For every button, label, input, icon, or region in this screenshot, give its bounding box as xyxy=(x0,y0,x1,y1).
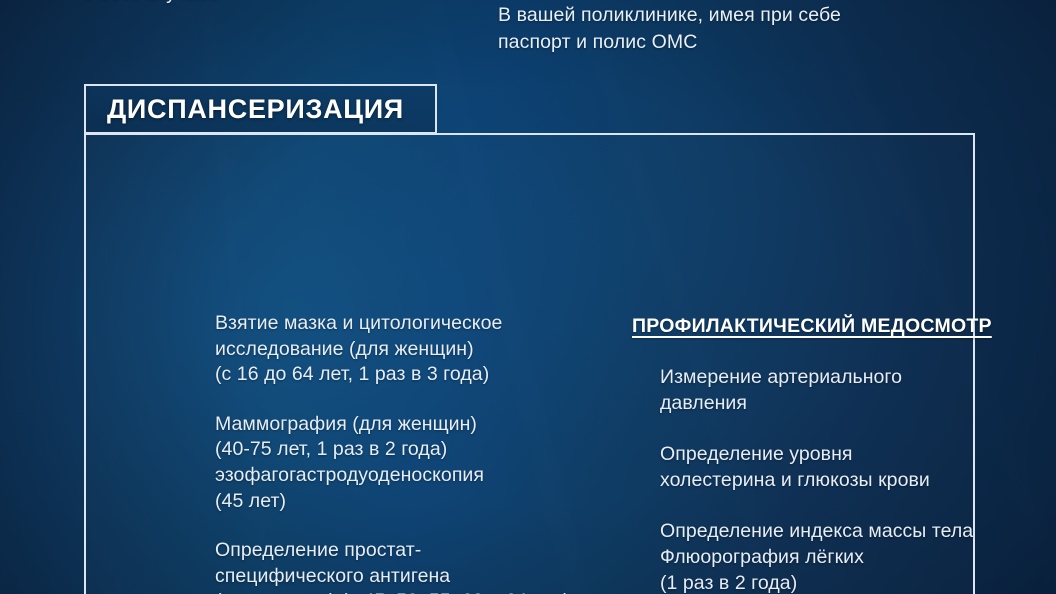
right-column: ПРОФИЛАКТИЧЕСКИЙ МЕДОСМОТР Измерение арт… xyxy=(632,315,1052,594)
caption-right: В вашей поликлинике, имея при себе паспо… xyxy=(498,2,968,56)
slide-root: в 90% случаев В вашей поликлинике, имея … xyxy=(0,0,1056,594)
right-column-heading: ПРОФИЛАКТИЧЕСКИЙ МЕДОСМОТР xyxy=(632,315,1052,338)
content-panel: Взятие мазка и цитологическое исследован… xyxy=(84,133,975,594)
list-item: Измерение артериального давления xyxy=(660,365,1052,416)
list-item: Взятие мазка и цитологическое исследован… xyxy=(215,311,635,388)
left-column: Взятие мазка и цитологическое исследован… xyxy=(215,311,635,594)
caption-left: в 90% случаев xyxy=(84,0,484,7)
list-item: Маммография (для женщин) (40-75 лет, 1 р… xyxy=(215,412,635,514)
list-item: Определение уровня холестерина и глюкозы… xyxy=(660,442,1052,493)
list-item: Определение индекса массы тела Флюорогра… xyxy=(660,519,1052,594)
list-item: Определение простат- специфического анти… xyxy=(215,538,635,594)
panel-title-box: ДИСПАНСЕРИЗАЦИЯ xyxy=(84,84,437,134)
panel-title: ДИСПАНСЕРИЗАЦИЯ xyxy=(107,94,404,125)
